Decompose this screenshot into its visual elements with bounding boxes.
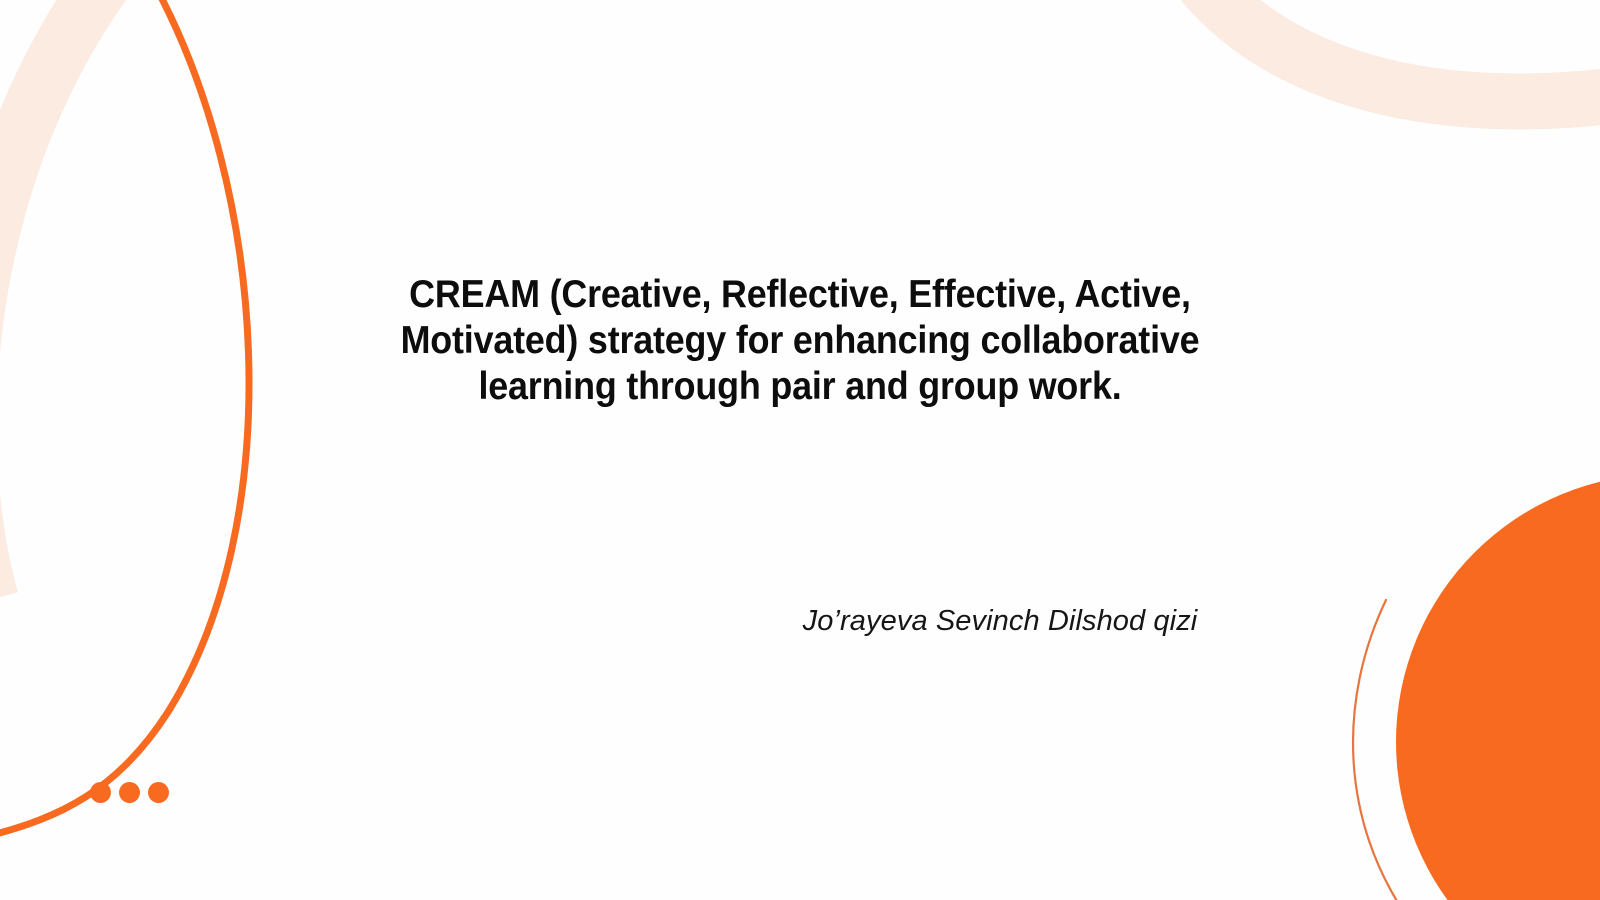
presentation-slide: CREAM (Creative, Reflective, Effective, … xyxy=(0,0,1600,900)
dot-icon-2 xyxy=(119,782,140,803)
author-block: Jo’rayeva Sevinch Dilshod qizi xyxy=(640,602,1360,640)
slide-content: CREAM (Creative, Reflective, Effective, … xyxy=(0,0,1600,900)
dot-icon-3 xyxy=(148,782,169,803)
slide-title: CREAM (Creative, Reflective, Effective, … xyxy=(349,272,1251,410)
author-name: Jo’rayeva Sevinch Dilshod qizi xyxy=(640,602,1360,640)
dot-icon-1 xyxy=(90,782,111,803)
title-block: CREAM (Creative, Reflective, Effective, … xyxy=(310,272,1290,410)
bottom-left-dots xyxy=(90,782,169,803)
